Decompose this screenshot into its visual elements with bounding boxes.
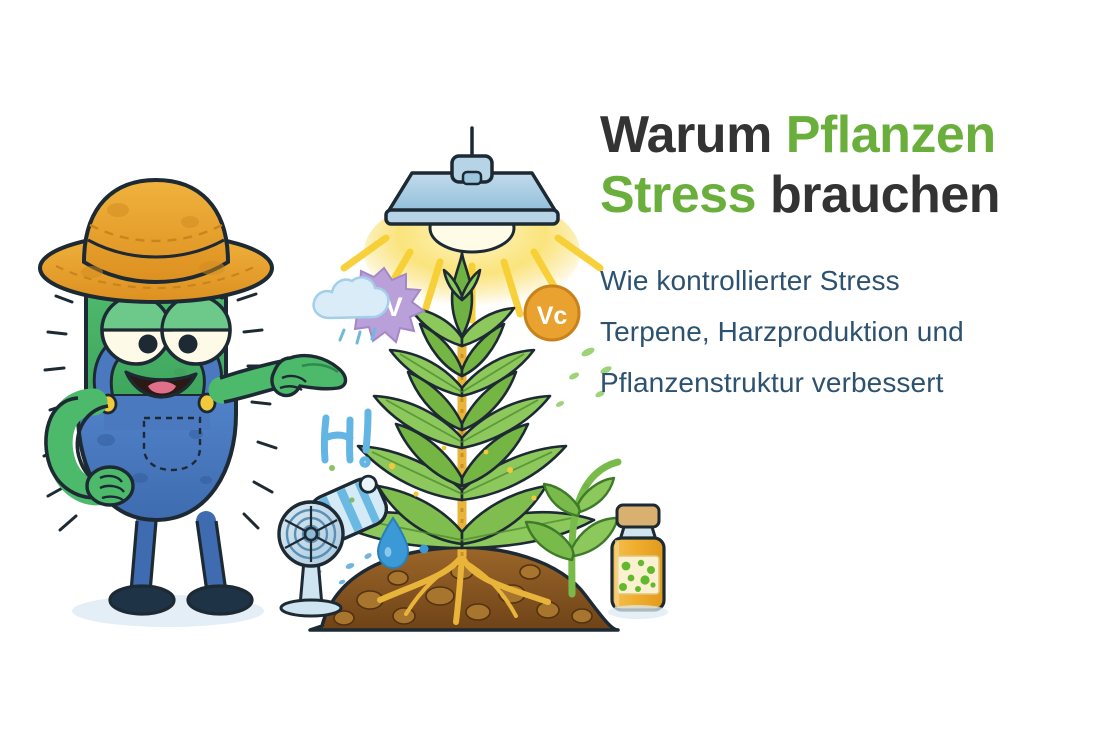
pointing-hand <box>272 356 346 396</box>
vc-badge: Vc <box>525 286 579 340</box>
text-block: Warum Pflanzen Stress brauchen Wie kontr… <box>600 105 1070 408</box>
page-title: Warum Pflanzen Stress brauchen <box>600 105 1070 226</box>
page-subtitle: Wie kontrollierter Stress Terpene, Harzp… <box>600 256 1070 409</box>
headline-word-pflanzen: Pflanzen <box>786 106 996 164</box>
headline-line-2: Stress brauchen <box>600 166 1000 224</box>
subtitle-line-3: Pflanzenstruktur verbessert <box>600 358 1070 409</box>
svg-text:Vc: Vc <box>537 302 568 330</box>
humidity-scribble <box>324 412 368 465</box>
headline-word-brauchen: brauchen <box>756 166 1000 224</box>
straw-hat <box>40 180 272 302</box>
headline-word-warum: Warum <box>600 106 786 164</box>
headline-word-stress: Stress <box>600 166 756 224</box>
headline-line-1: Warum Pflanzen <box>600 106 996 164</box>
nutrient-bottle <box>608 505 668 619</box>
banner-root: UV Vc <box>0 0 1100 733</box>
subtitle-line-2: Terpene, Harzproduktion und <box>600 307 1070 358</box>
subtitle-line-1: Wie kontrollierter Stress <box>600 256 1070 307</box>
mascot-right-arm <box>220 356 346 402</box>
illustration-area: UV Vc <box>0 0 700 733</box>
mascot-legs <box>136 521 216 594</box>
